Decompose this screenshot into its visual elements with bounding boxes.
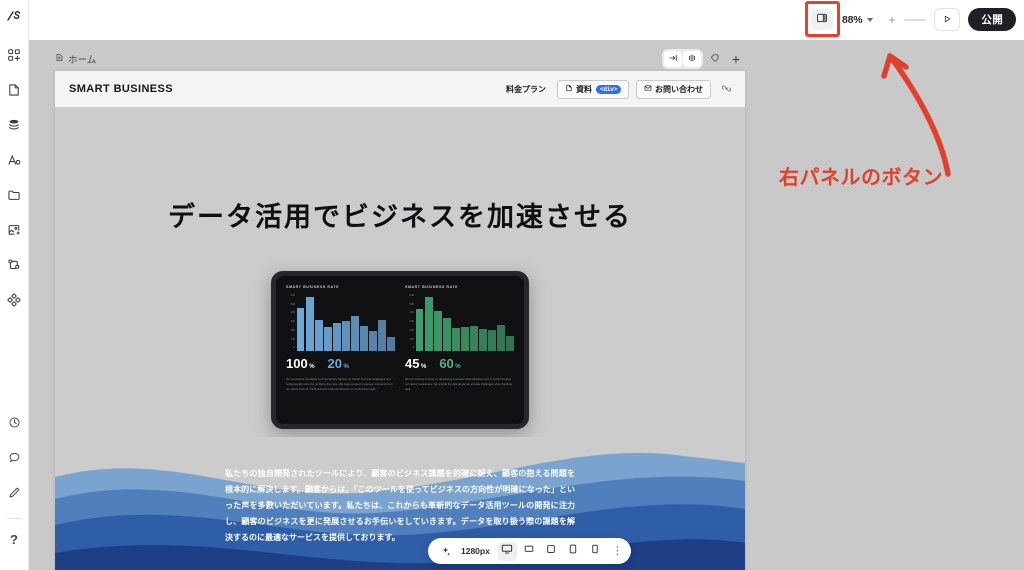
dashboard-mockup: SMART BUSINESS RATE 600 500 400 300 200 … xyxy=(271,271,529,429)
chart-bar xyxy=(425,297,432,351)
nav-item-pricing[interactable]: 料金プラン xyxy=(502,82,550,97)
sidebar-item-database[interactable] xyxy=(1,112,27,138)
chart-bar xyxy=(324,327,331,351)
site-brand: SMART BUSINESS xyxy=(69,83,173,95)
app-root: ? 88% + xyxy=(0,0,1024,570)
y-tick: 300 xyxy=(410,321,414,324)
tablet-icon xyxy=(567,542,579,560)
y-tick: 400 xyxy=(291,312,295,315)
chart-bar xyxy=(488,330,495,351)
link-icon[interactable] xyxy=(722,84,731,95)
sidebar-item-flow[interactable] xyxy=(1,252,27,278)
chart-bar xyxy=(443,318,450,351)
sidebar-item-media[interactable] xyxy=(1,217,27,243)
tool-shapes[interactable] xyxy=(706,50,724,68)
y-tick: 0 xyxy=(413,347,414,350)
stat-unit: % xyxy=(455,364,460,370)
sidebar-item-help[interactable]: ? xyxy=(1,526,27,552)
hero-title: データ活用でビジネスを加速させる xyxy=(55,107,745,234)
device-mobile-button[interactable] xyxy=(586,542,605,561)
chart-bar xyxy=(378,320,385,351)
sidebar-item-pages[interactable] xyxy=(1,77,27,103)
sidebar-item-edit[interactable] xyxy=(1,479,27,505)
canvas-toolbar: ホーム xyxy=(55,46,745,72)
site-nav: 料金プラン 資料 <div> お問 xyxy=(502,80,731,99)
top-toolbar-right-group: 88% + 公開 xyxy=(807,5,1016,34)
hero-section: データ活用でビジネスを加速させる SMART BUSINESS RATE 600… xyxy=(55,107,745,437)
wave-section: 私たちの独自開発されたツールにより、顧客のビジネス課題を的確に捉え、顧客の抱える… xyxy=(55,437,745,570)
add-icon: + xyxy=(732,52,740,66)
y-tick: 100 xyxy=(291,339,295,342)
chart-bar xyxy=(333,323,340,351)
zoom-slider[interactable] xyxy=(904,19,926,21)
chart-bar xyxy=(360,326,367,351)
stat-item: 60 % xyxy=(439,357,460,370)
chevron-down-icon[interactable] xyxy=(867,18,873,22)
chart-bar xyxy=(497,325,504,351)
y-tick: 200 xyxy=(410,330,414,333)
nav-item-contact[interactable]: お問い合わせ xyxy=(636,80,711,99)
chart-bar xyxy=(306,297,313,351)
chart-bar xyxy=(369,331,376,351)
components-icon xyxy=(7,293,21,307)
chart-bar xyxy=(452,328,459,351)
right-panel-icon xyxy=(816,11,828,29)
y-tick: 400 xyxy=(410,312,414,315)
dashboard-panel-right: SMART BUSINESS RATE 600 500 400 300 200 … xyxy=(405,285,514,416)
chart-bar xyxy=(434,311,441,351)
chart-right-stats: 45 % 60 % xyxy=(405,357,514,370)
device-tablet-landscape-button[interactable] xyxy=(542,542,561,561)
stat-unit: % xyxy=(421,364,426,370)
laptop-icon xyxy=(523,542,535,560)
chart-left-bars xyxy=(297,295,395,351)
chart-left: 600 500 400 300 200 100 0 xyxy=(286,295,395,351)
logo-mark-icon[interactable] xyxy=(6,8,23,30)
device-tablet-button[interactable] xyxy=(564,542,583,561)
flow-icon xyxy=(7,258,21,272)
folder-icon xyxy=(7,188,21,202)
right-panel-toggle-wrapper xyxy=(807,5,837,34)
database-icon xyxy=(7,118,21,132)
chart-bar xyxy=(351,316,358,351)
y-tick: 100 xyxy=(410,339,414,342)
stat-value: 60 xyxy=(439,357,453,370)
chart-left-stats: 100 % 20 % xyxy=(286,357,395,370)
sidebar-item-history[interactable] xyxy=(1,409,27,435)
chart-bar xyxy=(470,326,477,351)
tool-segment-group xyxy=(662,49,703,69)
shapes-icon xyxy=(710,50,720,68)
nav-item-materials-label: 資料 xyxy=(576,84,592,95)
canvas-toolbar-tools: + xyxy=(662,49,745,69)
y-tick: 600 xyxy=(410,295,414,298)
nav-item-contact-label: お問い合わせ xyxy=(655,84,703,95)
stat-unit: % xyxy=(344,364,349,370)
nav-item-materials[interactable]: 資料 <div> xyxy=(557,80,629,99)
publish-button[interactable]: 公開 xyxy=(968,8,1016,31)
rail-bottom-group: ? xyxy=(1,409,27,570)
mobile-icon xyxy=(589,542,601,560)
site-header: SMART BUSINESS 料金プラン 資料 <div> xyxy=(55,71,745,107)
stat-value: 45 xyxy=(405,357,419,370)
device-more-options-button[interactable]: ⋮ xyxy=(612,546,623,557)
chart-left-y-axis: 600 500 400 300 200 100 0 xyxy=(286,295,297,351)
y-tick: 0 xyxy=(294,347,295,350)
stat-item: 100 % xyxy=(286,357,315,370)
div-element-badge: <div> xyxy=(596,85,621,94)
chart-bar xyxy=(416,309,423,351)
chart-right-bars xyxy=(416,295,514,351)
chart-bar xyxy=(315,320,322,351)
chart-right-y-axis: 600 500 400 300 200 100 0 xyxy=(405,295,416,351)
chart-bar xyxy=(479,329,486,351)
pencil-icon xyxy=(8,486,21,499)
columns-icon xyxy=(687,50,697,68)
document-icon xyxy=(565,84,573,94)
home-page-icon xyxy=(55,53,64,65)
y-tick: 300 xyxy=(291,321,295,324)
sidebar-item-comments[interactable] xyxy=(1,444,27,470)
chart-right: 600 500 400 300 200 100 0 xyxy=(405,295,514,351)
y-tick: 500 xyxy=(410,304,414,307)
chart-bar xyxy=(387,337,394,351)
preview-button[interactable] xyxy=(934,8,960,31)
chart-title-right: SMART BUSINESS RATE xyxy=(405,285,514,289)
sidebar-item-components[interactable] xyxy=(1,287,27,313)
device-laptop-button[interactable] xyxy=(520,542,539,561)
breadcrumb[interactable]: ホーム xyxy=(55,52,96,66)
sparkle-icon[interactable] xyxy=(436,542,455,561)
history-icon xyxy=(8,416,21,429)
breadcrumb-label: ホーム xyxy=(68,52,96,66)
chart-title-left: SMART BUSINESS RATE xyxy=(286,285,395,289)
stat-unit: % xyxy=(309,364,314,370)
zoom-in-button[interactable]: + xyxy=(883,11,900,28)
stat-value: 20 xyxy=(328,357,342,370)
y-tick: 600 xyxy=(291,295,295,298)
arrow-right-icon xyxy=(668,50,678,68)
sidebar-item-folder[interactable] xyxy=(1,182,27,208)
page-icon xyxy=(7,83,21,97)
mail-icon xyxy=(644,84,652,94)
rail-divider xyxy=(7,518,22,519)
annotation-label: 右パネルのボタン xyxy=(779,161,943,190)
help-icon: ? xyxy=(10,533,18,546)
chart-left-caption: Our proprietary tool allows us to accura… xyxy=(286,377,395,392)
body-copy: 私たちの独自開発されたツールにより、顧客のビジネス課題を的確に捉え、顧客の抱える… xyxy=(225,466,575,546)
left-sidebar-rail: ? xyxy=(0,0,29,570)
image-icon xyxy=(7,223,21,237)
viewport-width-label[interactable]: 1280px xyxy=(461,546,490,556)
typography-icon xyxy=(7,153,21,167)
tool-arrow-right[interactable] xyxy=(664,51,682,67)
device-desktop-button[interactable] xyxy=(498,542,517,561)
chart-right-caption: We will continue to focus on developing … xyxy=(405,377,514,392)
apps-grid-icon xyxy=(7,48,21,62)
y-tick: 500 xyxy=(291,304,295,307)
tool-add[interactable]: + xyxy=(727,50,745,68)
stat-value: 100 xyxy=(286,357,308,370)
page-canvas[interactable]: SMART BUSINESS 料金プラン 資料 <div> xyxy=(55,71,745,570)
chart-bar xyxy=(297,308,304,351)
stat-item: 20 % xyxy=(328,357,349,370)
chart-bar xyxy=(461,327,468,351)
stat-item: 45 % xyxy=(405,357,426,370)
chart-bar xyxy=(506,336,513,351)
desktop-icon xyxy=(501,542,513,560)
sidebar-item-typography[interactable] xyxy=(1,147,27,173)
device-preview-toolbar: 1280px xyxy=(428,538,631,564)
right-panel-toggle-button[interactable] xyxy=(811,9,833,30)
chart-bar xyxy=(342,321,349,351)
y-tick: 200 xyxy=(291,330,295,333)
dashboard-panel-left: SMART BUSINESS RATE 600 500 400 300 200 … xyxy=(286,285,395,416)
play-icon xyxy=(942,11,952,29)
tablet-landscape-icon xyxy=(545,542,557,560)
sidebar-item-apps-grid[interactable] xyxy=(1,42,27,68)
comment-icon xyxy=(8,451,21,464)
zoom-level-label[interactable]: 88% xyxy=(842,14,862,26)
tool-columns[interactable] xyxy=(683,51,701,67)
zoom-controls: + xyxy=(883,11,926,28)
